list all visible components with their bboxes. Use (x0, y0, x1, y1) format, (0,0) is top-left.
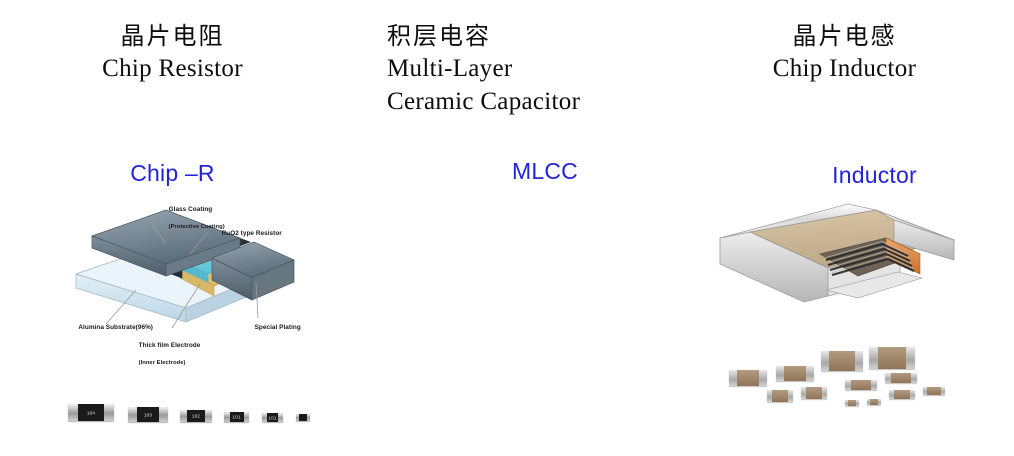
page-title-chip-resistor: 晶片电阻 Chip Resistor (0, 22, 345, 86)
title-en-mlcc-line1: Multi-Layer (387, 53, 667, 86)
callout-special-plating-line1: Special Plating (255, 324, 301, 331)
resistor-photo-item: 103 (128, 407, 168, 422)
resistor-photo-item: 102 (180, 410, 212, 422)
resistor-cap-left (296, 414, 299, 421)
subtitle-chip-inductor: Inductor (705, 162, 1014, 189)
callout-ruo2-resistor-line1: RuO2 type Resistor (222, 230, 282, 237)
resistor-code: 104 (68, 410, 114, 415)
callout-thick-film-electrode: Thick film Electrode (Inner Electrode) (124, 334, 200, 375)
subtitle-chip-resistor: Chip –R (0, 160, 345, 187)
chip-resistor-photos: 104 103 102 101 101 (62, 398, 342, 440)
title-cn-chip-resistor: 晶片电阻 (0, 22, 345, 53)
chip-resistor-cutaway-diagram: Glass Coating (Protective Coating) RuO2 … (62, 196, 324, 356)
resistor-code: 101 (262, 415, 283, 420)
resistor-cap-right (307, 414, 310, 421)
title-cn-chip-inductor: 晶片电感 (675, 22, 1014, 53)
resistor-photo-item: 101 (224, 412, 249, 422)
resistor-photo-item: 101 (262, 413, 283, 422)
column-chip-resistor: 晶片电阻 Chip Resistor Chip –R (0, 0, 345, 456)
resistor-photo-item: 104 (68, 404, 114, 421)
column-mlcc: 积层电容 Multi-Layer Ceramic Capacitor MLCC (345, 0, 675, 456)
title-en-mlcc-line2: Ceramic Capacitor (387, 86, 667, 119)
component-overview-slide: 晶片电阻 Chip Resistor Chip –R (0, 0, 1014, 456)
callout-thick-film-electrode-line1: Thick film Electrode (139, 342, 201, 349)
resistor-code: 102 (180, 414, 212, 419)
page-title-chip-inductor: 晶片电感 Chip Inductor (675, 22, 1014, 86)
callout-special-plating: Special Plating (240, 316, 301, 341)
resistor-photo-item (296, 414, 310, 421)
callout-glass-coating-line1: Glass Coating (169, 206, 213, 213)
resistor-code: 101 (224, 415, 249, 420)
page-title-mlcc: 积层电容 Multi-Layer Ceramic Capacitor (387, 22, 667, 118)
resistor-code: 103 (128, 412, 168, 417)
title-en-chip-inductor: Chip Inductor (675, 53, 1014, 86)
callout-thick-film-electrode-line2: (Inner Electrode) (139, 360, 186, 366)
title-en-chip-resistor: Chip Resistor (0, 53, 345, 86)
callout-ruo2-resistor: RuO2 type Resistor (207, 222, 282, 247)
subtitle-mlcc: MLCC (435, 158, 655, 185)
title-cn-mlcc: 积层电容 (387, 22, 667, 53)
column-chip-inductor: 晶片电感 Chip Inductor Inductor (675, 0, 1014, 456)
callout-alumina-substrate-line1: Alumina Substrate(96%) (78, 324, 153, 331)
